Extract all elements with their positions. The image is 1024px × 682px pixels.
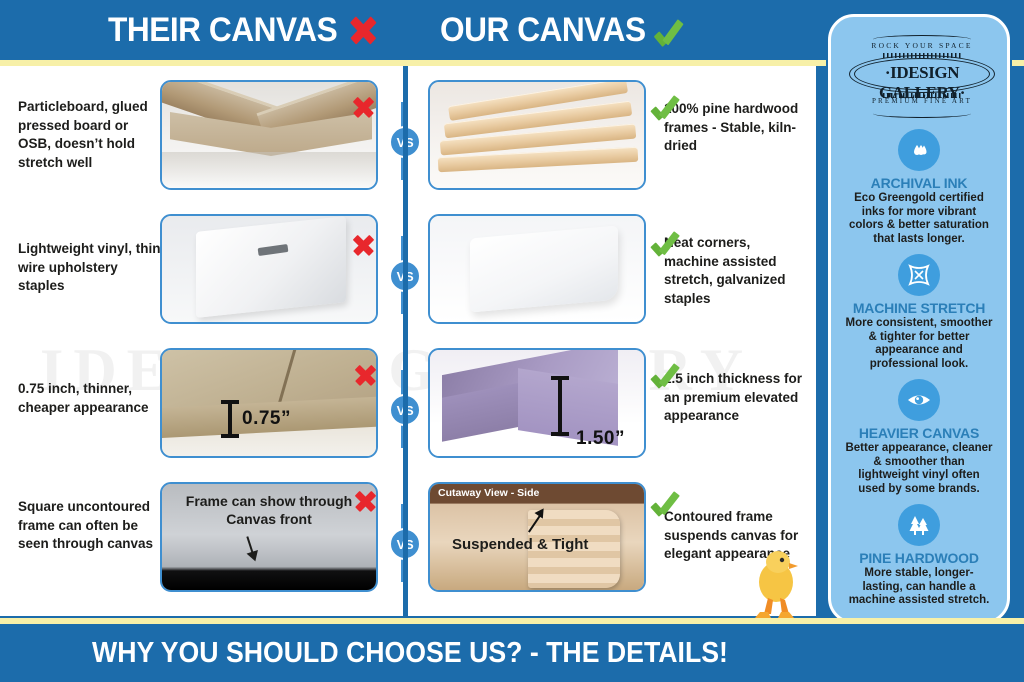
- feature-desc: Eco Greengold certified inks for more vi…: [843, 192, 995, 246]
- brand-logo: ROCK YOUR SPACE ·IDESIGN GALLERY· PREMIU…: [843, 29, 1001, 121]
- their-photo-caption-4: Frame can show through Canvas front: [162, 492, 376, 528]
- our-photo-1: [428, 80, 646, 190]
- logo-tagline-bottom: PREMIUM FINE ART: [843, 97, 1001, 105]
- cutaway-view-label: Cutaway View - Side: [438, 487, 539, 499]
- comparison-row-3: 0.75 inch, thinner, cheaper appearance 0…: [0, 348, 816, 472]
- their-photo-1: [160, 80, 378, 190]
- their-text-4: Square uncontoured frame can often be se…: [18, 498, 163, 554]
- comparison-row-1: Particleboard, glued pressed board or OS…: [0, 80, 816, 204]
- feature-title: HEAVIER CANVAS: [843, 425, 995, 441]
- feature-title: PINE HARDWOOD: [843, 550, 995, 566]
- their-canvas-heading-text: THEIR CANVAS: [108, 11, 337, 49]
- feature-desc: Better appearance, cleaner & smoother th…: [843, 442, 995, 496]
- our-thickness-label: 1.50”: [576, 428, 625, 450]
- their-photo-2: [160, 214, 378, 324]
- column-divider: [403, 66, 408, 626]
- our-text-2: Neat corners, machine assisted stretch, …: [664, 234, 804, 308]
- our-photo-4: Cutaway View - Side Suspended & Tight: [428, 482, 646, 592]
- stretched-canvas-icon: [898, 254, 940, 296]
- their-text-3: 0.75 inch, thinner, cheaper appearance: [18, 380, 163, 417]
- comparison-row-2: Lightweight vinyl, thin wire upholstery …: [0, 214, 816, 338]
- check-mark-icon: [655, 14, 687, 58]
- their-text-2: Lightweight vinyl, thin wire upholstery …: [18, 240, 163, 296]
- their-canvas-heading: THEIR CANVAS: [108, 8, 378, 58]
- feature-pine-hardwood: PINE HARDWOOD More stable, longer-lastin…: [843, 504, 995, 608]
- our-photo-2: [428, 214, 646, 324]
- comparison-body: IDESIGN GALLERY Particleboard, glued pre…: [0, 66, 816, 616]
- features-sidebar: ROCK YOUR SPACE ·IDESIGN GALLERY· PREMIU…: [828, 14, 1010, 624]
- footer-bar: WHY YOU SHOULD CHOOSE US? - THE DETAILS!: [0, 624, 1024, 682]
- our-text-3: 1.5 inch thickness for an premium elevat…: [664, 370, 804, 426]
- footer-headline: WHY YOU SHOULD CHOOSE US? - THE DETAILS!: [33, 632, 787, 674]
- duckling-mascot-icon: [748, 548, 804, 626]
- our-canvas-heading-text: OUR CANVAS: [440, 11, 646, 49]
- our-photo-caption-4: Suspended & Tight: [452, 536, 588, 553]
- feature-title: MACHINE STRETCH: [843, 300, 995, 316]
- our-canvas-heading: OUR CANVAS: [440, 8, 686, 58]
- feature-title: ARCHIVAL INK: [843, 175, 995, 191]
- feature-heavier-canvas: HEAVIER CANVAS Better appearance, cleane…: [843, 379, 995, 496]
- arrow-down-icon: [246, 536, 255, 559]
- their-photo-3: 0.75”: [160, 348, 378, 458]
- feature-desc: More stable, longer-lasting, can handle …: [843, 567, 995, 608]
- our-text-1: 100% pine hardwood frames - Stable, kiln…: [664, 100, 804, 156]
- our-photo-3: 1.50”: [428, 348, 646, 458]
- their-thickness-label: 0.75”: [242, 408, 291, 430]
- infographic-page: THEIR CANVAS OUR CANVAS IDESIGN GALLERY …: [0, 0, 1024, 682]
- comparison-row-4: Square uncontoured frame can often be se…: [0, 482, 816, 606]
- cross-mark-icon: [347, 13, 379, 58]
- logo-tagline-top: ROCK YOUR SPACE: [843, 41, 1001, 50]
- pine-trees-icon: [898, 504, 940, 546]
- their-photo-4: Frame can show through Canvas front: [160, 482, 378, 592]
- eye-icon: [898, 379, 940, 421]
- their-text-1: Particleboard, glued pressed board or OS…: [18, 98, 163, 172]
- feature-desc: More consistent, smoother & tighter for …: [843, 317, 995, 371]
- feature-machine-stretch: MACHINE STRETCH More consistent, smoothe…: [843, 254, 995, 371]
- feature-archival-ink: ARCHIVAL INK Eco Greengold certified ink…: [843, 129, 995, 246]
- water-drops-icon: [898, 129, 940, 171]
